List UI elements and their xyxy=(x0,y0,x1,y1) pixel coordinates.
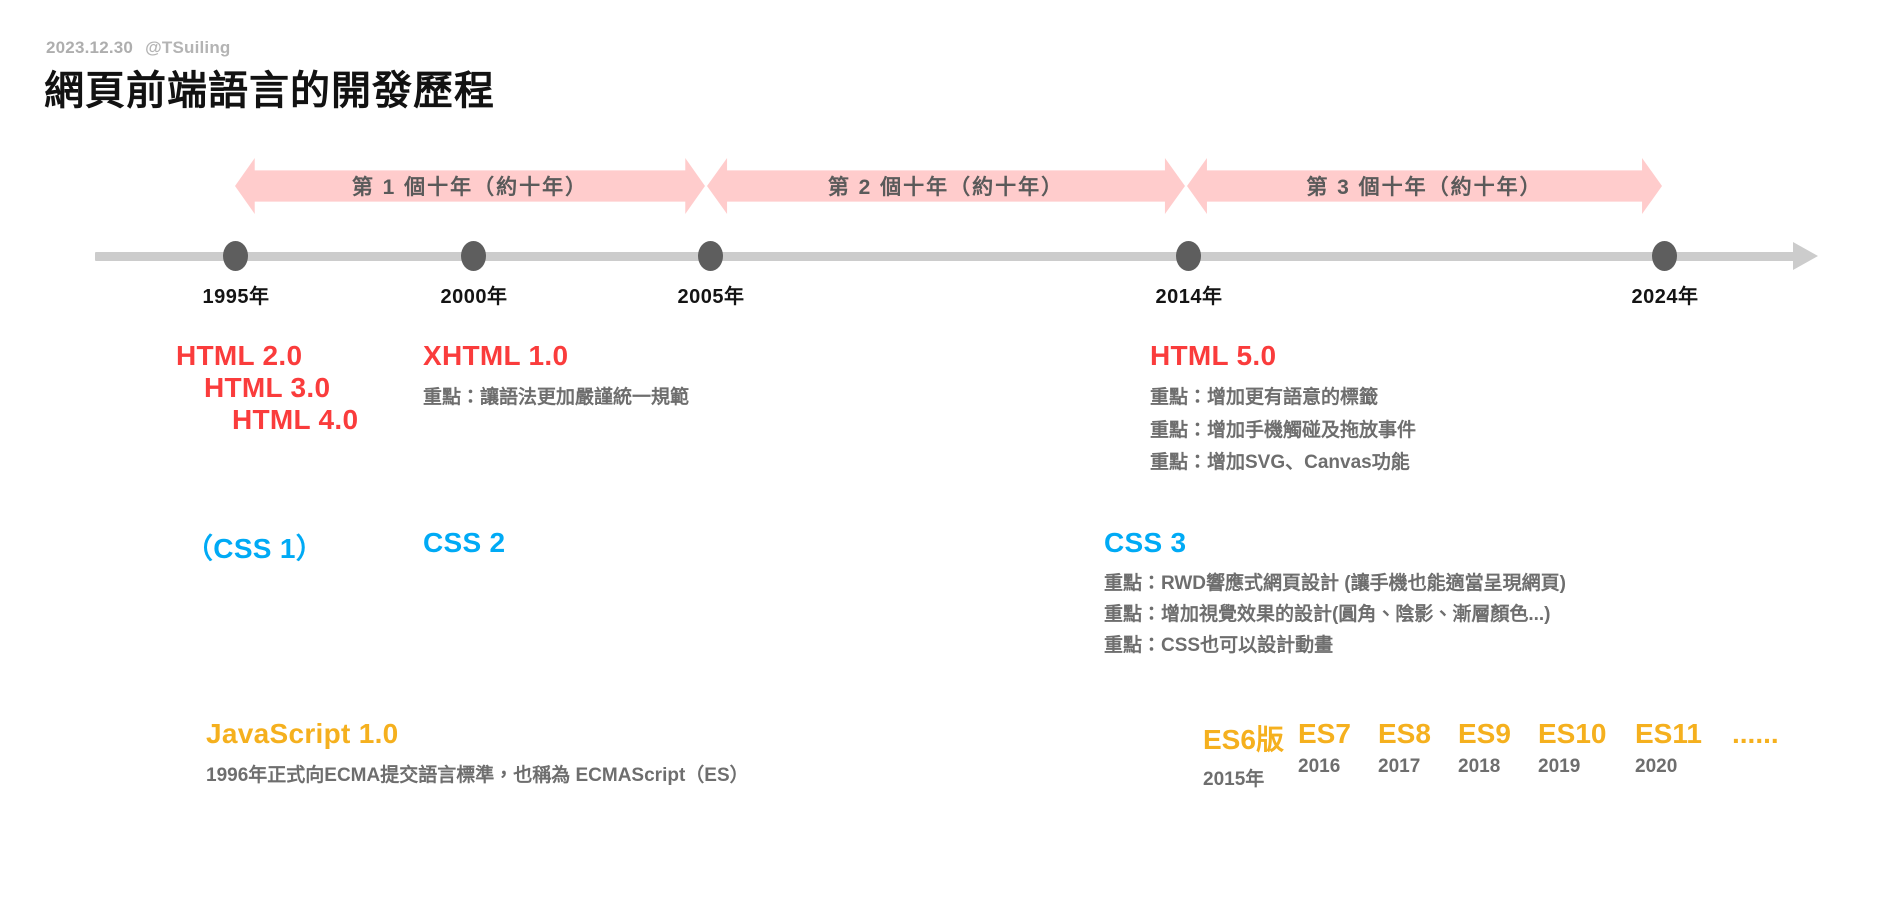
html5-note-3: 重點：增加SVG、Canvas功能 xyxy=(1150,447,1416,480)
decade-1-label: 第 1 個十年（約十年） xyxy=(352,171,588,201)
css3-note-3: 重點：CSS也可以設計動畫 xyxy=(1104,631,1566,662)
html-3-label: HTML 3.0 xyxy=(176,372,358,404)
page-title: 網頁前端語言的開發歷程 xyxy=(44,58,495,116)
es8-name: ES8 xyxy=(1378,718,1431,750)
es-item-es8: ES8 2017 xyxy=(1378,718,1458,778)
timeline-year-2000: 2000年 xyxy=(441,280,508,309)
es7-year: 2016 xyxy=(1298,756,1340,778)
timeline-year-2014: 2014年 xyxy=(1156,280,1223,309)
es11-name: ES11 xyxy=(1635,718,1702,750)
timeline-year-2024: 2024年 xyxy=(1632,280,1699,309)
html5-2014-block: HTML 5.0 重點：增加更有語意的標籤 重點：增加手機觸碰及拖放事件 重點：… xyxy=(1150,340,1416,480)
es9-name: ES9 xyxy=(1458,718,1511,750)
timeline-year-1995: 1995年 xyxy=(203,280,270,309)
html5-note-2: 重點：增加手機觸碰及拖放事件 xyxy=(1150,415,1416,448)
decade-3-label: 第 3 個十年（約十年） xyxy=(1306,171,1542,201)
timeline-dot-2024 xyxy=(1652,241,1677,271)
es-item-es11: ES11 2020 xyxy=(1635,718,1732,778)
css3-2014-block: CSS 3 重點：RWD響應式網頁設計 (讓手機也能適當呈現網頁) 重點：增加視… xyxy=(1104,527,1566,661)
decade-arrow-1: 第 1 個十年（約十年） xyxy=(235,158,705,214)
es10-year: 2019 xyxy=(1538,756,1580,778)
timeline-dot-2005 xyxy=(698,241,723,271)
html-4-label: HTML 4.0 xyxy=(176,404,358,436)
css1-1995-block: （CSS 1） xyxy=(185,527,324,567)
es6-name: ES6版 xyxy=(1203,718,1284,758)
author-handle: @TSuiling xyxy=(145,38,230,57)
timeline-dot-2000 xyxy=(461,241,486,271)
es-item-es10: ES10 2019 xyxy=(1538,718,1635,778)
javascript-note: 1996年正式向ECMA提交語言標準，也稱為 ECMAScript（ES） xyxy=(206,760,749,793)
timeline-dot-2014 xyxy=(1176,241,1201,271)
infographic-canvas: 2023.12.30@TSuiling 網頁前端語言的開發歷程 第 1 個十年（… xyxy=(0,0,1900,900)
decade-arrow-3: 第 3 個十年（約十年） xyxy=(1187,158,1662,214)
es-item-more: ...... xyxy=(1732,718,1779,750)
ecmascript-versions-block: ES6版 2015年 ES7 2016 ES8 2017 ES9 2018 ES… xyxy=(1203,718,1779,791)
html5-note-1: 重點：增加更有語意的標籤 xyxy=(1150,382,1416,415)
timeline-arrow-icon xyxy=(1793,242,1818,270)
css3-note-2: 重點：增加視覺效果的設計(圓角、陰影、漸層顏色...) xyxy=(1104,600,1566,631)
html-2-label: HTML 2.0 xyxy=(176,340,358,372)
es9-year: 2018 xyxy=(1458,756,1500,778)
es-item-es7: ES7 2016 xyxy=(1298,718,1378,778)
css3-note-1: 重點：RWD響應式網頁設計 (讓手機也能適當呈現網頁) xyxy=(1104,569,1566,600)
timeline-dot-1995 xyxy=(223,241,248,271)
es11-year: 2020 xyxy=(1635,756,1677,778)
timeline-axis xyxy=(95,252,1795,261)
decade-arrow-2: 第 2 個十年（約十年） xyxy=(707,158,1185,214)
es-ellipsis-label: ...... xyxy=(1732,718,1779,750)
javascript-title: JavaScript 1.0 xyxy=(206,718,749,750)
meta-line: 2023.12.30@TSuiling xyxy=(46,38,231,58)
es6-year: 2015年 xyxy=(1203,764,1264,791)
es8-year: 2017 xyxy=(1378,756,1420,778)
javascript-1996-block: JavaScript 1.0 1996年正式向ECMA提交語言標準，也稱為 EC… xyxy=(206,718,749,793)
timeline-year-2005: 2005年 xyxy=(678,280,745,309)
xhtml-title: XHTML 1.0 xyxy=(423,340,689,372)
es7-name: ES7 xyxy=(1298,718,1351,750)
html5-title: HTML 5.0 xyxy=(1150,340,1416,372)
css3-title: CSS 3 xyxy=(1104,527,1566,559)
es10-name: ES10 xyxy=(1538,718,1607,750)
xhtml-2000-block: XHTML 1.0 重點：讓語法更加嚴謹統一規範 xyxy=(423,340,689,415)
css2-title: CSS 2 xyxy=(423,527,505,559)
css2-2000-block: CSS 2 xyxy=(423,527,505,559)
es-item-es9: ES9 2018 xyxy=(1458,718,1538,778)
publish-date: 2023.12.30 xyxy=(46,38,133,57)
es-item-es6: ES6版 2015年 xyxy=(1203,718,1298,791)
ecmascript-version-row: ES6版 2015年 ES7 2016 ES8 2017 ES9 2018 ES… xyxy=(1203,718,1779,791)
html-versions-1995-block: HTML 2.0 HTML 3.0 HTML 4.0 xyxy=(176,340,358,436)
xhtml-note: 重點：讓語法更加嚴謹統一規範 xyxy=(423,382,689,415)
css1-title: （CSS 1） xyxy=(185,527,324,567)
decade-2-label: 第 2 個十年（約十年） xyxy=(828,171,1064,201)
